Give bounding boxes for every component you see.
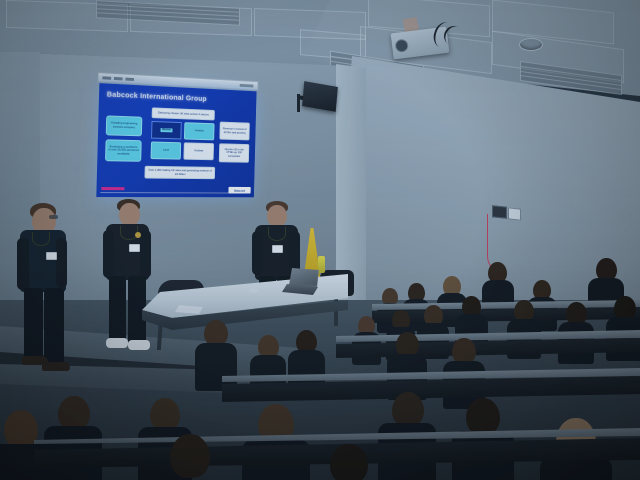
mouse[interactable] [249, 288, 258, 293]
presenter-trainer [106, 338, 128, 348]
slide-logo: Babcock [228, 187, 250, 194]
slide-title: Babcock International Group [107, 90, 209, 104]
presenter-head [119, 203, 140, 226]
id-badge [129, 244, 140, 252]
slide-grid-cell-land: Land [151, 141, 182, 159]
presenter-arm [56, 238, 67, 288]
student-head [330, 444, 368, 480]
student-head [392, 392, 424, 427]
presenter-arm [252, 231, 263, 275]
presenter-leg [24, 288, 43, 360]
lanyard [268, 227, 286, 241]
presenter-head [267, 205, 287, 227]
presenter-trainer [128, 340, 150, 350]
slide-left-box-1: A leading engineering services company [106, 115, 143, 136]
presenter-arm [140, 230, 151, 278]
classroom-presentation-photo: Babcock International Group Delivering c… [0, 0, 640, 480]
lanyard [32, 232, 50, 246]
id-badge [272, 245, 283, 253]
slide-grid-cell-nuclear: Nuclear [183, 142, 214, 160]
slide-left-box-2: Employing a workforce of over 26,000 per… [105, 139, 142, 162]
student-head [58, 396, 90, 430]
badge-pin-icon [135, 232, 141, 238]
laptop-screen[interactable] [289, 268, 319, 287]
slide-grid-cell-marine: Marine [151, 121, 182, 139]
student-body [540, 458, 612, 480]
id-badge [46, 252, 57, 260]
slide-accent-bar [101, 187, 124, 190]
smoke-detector-icon [519, 38, 543, 51]
bottle [318, 256, 325, 273]
presenter-leg [44, 288, 64, 364]
presenter-leg [109, 276, 126, 342]
presenter-shoe [42, 362, 70, 371]
presenter-arm [103, 230, 114, 278]
wall-data-outlet-icon[interactable] [508, 207, 521, 220]
slide-grid-label-marine: Marine [160, 128, 172, 132]
slide-grid-cell-aviation: Aviation [184, 122, 215, 140]
presentation-slide[interactable]: Babcock International Group Delivering c… [96, 83, 256, 197]
student-head [4, 410, 38, 448]
wall-socket-icon[interactable] [492, 205, 507, 219]
slide-right-box-1: Revenue in excess of £4.5bn and growing [219, 122, 249, 141]
toolbar-dots-icon [102, 76, 134, 81]
toolbar-right-icon [240, 84, 254, 88]
student-body [195, 343, 237, 391]
presenter-arm [17, 238, 29, 290]
projection-screen[interactable]: Babcock International Group Delivering c… [94, 72, 258, 200]
glasses-icon [49, 215, 58, 219]
slide-top-banner: Delivering chosen UK sites across 4 sect… [152, 107, 215, 120]
student-head [170, 434, 210, 478]
student-head [466, 398, 500, 435]
slide-right-box-2: Number 20 in the FTSE top 100 companies [219, 143, 250, 162]
slide-bottom-banner: Over 1,000 trading UK sites and generati… [144, 166, 215, 179]
projector-lens-icon [394, 39, 408, 53]
